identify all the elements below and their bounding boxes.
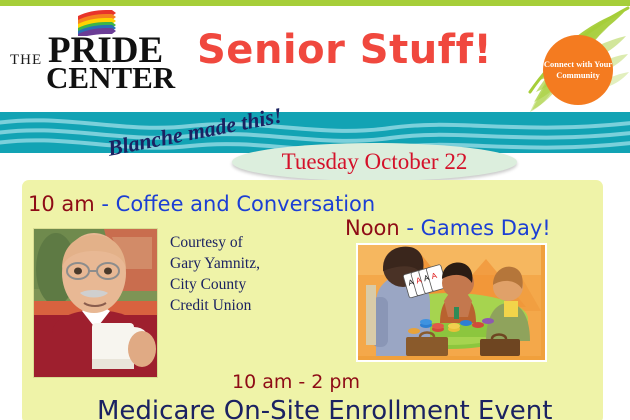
footer-event-time: 10 am - 2 pm bbox=[232, 371, 360, 393]
sponsor-line-4: Credit Union bbox=[170, 296, 260, 317]
date-badge: Tuesday October 22 bbox=[232, 143, 517, 181]
event-coffee-time: 10 am bbox=[28, 192, 95, 216]
connect-badge: Connect with Your Community bbox=[543, 35, 613, 105]
senior-man-with-coffee-mug-photo bbox=[33, 228, 158, 378]
pride-center-logo: THE PRIDE CENTER bbox=[8, 10, 173, 95]
people-playing-cards-illustration: A A A A bbox=[356, 243, 547, 362]
event-games-line: Noon - Games Day! bbox=[345, 216, 551, 240]
footer-event-title: Medicare On-Site Enrollment Event bbox=[97, 396, 552, 420]
event-coffee-title: Coffee and Conversation bbox=[116, 192, 376, 216]
logo-the-text: THE bbox=[10, 52, 42, 69]
sponsor-line-3: City County bbox=[170, 275, 260, 296]
flyer-page: Connect with Your Community THE PRIDE CE… bbox=[0, 0, 630, 420]
sponsor-line-2: Gary Yamnitz, bbox=[170, 254, 260, 275]
event-coffee-line: 10 am - Coffee and Conversation bbox=[28, 192, 375, 216]
sponsor-line-1: Courtesy of bbox=[170, 233, 260, 254]
page-title: Senior Stuff! bbox=[197, 27, 492, 73]
logo-center-text: CENTER bbox=[46, 62, 175, 93]
event-games-title: Games Day! bbox=[421, 216, 551, 240]
event-games-time: Noon bbox=[345, 216, 400, 240]
sponsor-credit: Courtesy of Gary Yamnitz, City County Cr… bbox=[170, 233, 260, 317]
date-text: Tuesday October 22 bbox=[282, 149, 468, 175]
event-coffee-separator: - bbox=[95, 192, 116, 216]
event-games-separator: - bbox=[400, 216, 421, 240]
